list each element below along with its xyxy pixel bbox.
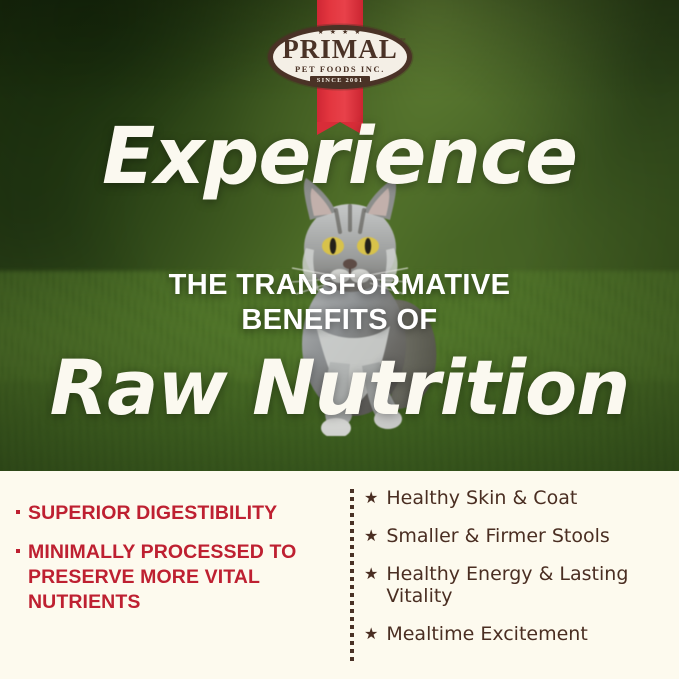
benefit-item: ★ Healthy Energy & Lasting Vitality (364, 563, 669, 609)
benefits-left-column: SUPERIOR DIGESTIBILITY MINIMALLY PROCESS… (0, 471, 334, 679)
square-bullet-icon (16, 549, 20, 553)
trademark-icon: ™ (400, 39, 406, 45)
logo-content: ★ ★ ★ ★ PRIMAL™ PET FOODS INC. SINCE 200… (268, 25, 412, 89)
star-bullet-icon: ★ (364, 487, 378, 509)
benefit-label: Smaller & Firmer Stools (386, 525, 609, 548)
benefit-label: MINIMALLY PROCESSED TO PRESERVE MORE VIT… (28, 540, 316, 615)
benefits-panel: SUPERIOR DIGESTIBILITY MINIMALLY PROCESS… (0, 471, 679, 679)
headline-raw-nutrition: Raw Nutrition (0, 350, 679, 426)
logo-subtitle: PET FOODS INC. (295, 64, 385, 74)
primal-logo: ★ ★ ★ ★ PRIMAL™ PET FOODS INC. SINCE 200… (268, 25, 412, 89)
star-bullet-icon: ★ (364, 623, 378, 645)
benefit-item: MINIMALLY PROCESSED TO PRESERVE MORE VIT… (14, 540, 316, 615)
star-bullet-icon: ★ (364, 563, 378, 585)
benefit-item: SUPERIOR DIGESTIBILITY (14, 501, 316, 526)
vertical-dotted-divider (350, 489, 354, 663)
benefit-label: Healthy Energy & Lasting Vitality (386, 563, 669, 609)
logo-since-banner: SINCE 2001 (310, 76, 371, 85)
star-bullet-icon: ★ (364, 525, 378, 547)
benefits-right-column: ★ Healthy Skin & Coat ★ Smaller & Firmer… (334, 471, 679, 679)
benefit-label: Healthy Skin & Coat (386, 487, 577, 510)
primal-raw-nutrition-ad: ★ ★ ★ ★ PRIMAL™ PET FOODS INC. SINCE 200… (0, 0, 679, 679)
benefit-item: ★ Mealtime Excitement (364, 623, 669, 646)
benefit-item: ★ Healthy Skin & Coat (364, 487, 669, 510)
logo-wordmark-text: PRIMAL (282, 34, 398, 64)
square-bullet-icon (16, 510, 20, 514)
subheadline-line-1: THE TRANSFORMATIVE (0, 268, 679, 303)
subheadline: THE TRANSFORMATIVE BENEFITS OF (0, 268, 679, 339)
headline-experience: Experience (0, 118, 679, 196)
hero-photo: ★ ★ ★ ★ PRIMAL™ PET FOODS INC. SINCE 200… (0, 0, 679, 471)
benefit-label: Mealtime Excitement (386, 623, 587, 646)
logo-wordmark: PRIMAL™ (282, 37, 398, 63)
benefit-item: ★ Smaller & Firmer Stools (364, 525, 669, 548)
subheadline-line-2: BENEFITS OF (0, 303, 679, 338)
benefit-label: SUPERIOR DIGESTIBILITY (28, 501, 277, 526)
